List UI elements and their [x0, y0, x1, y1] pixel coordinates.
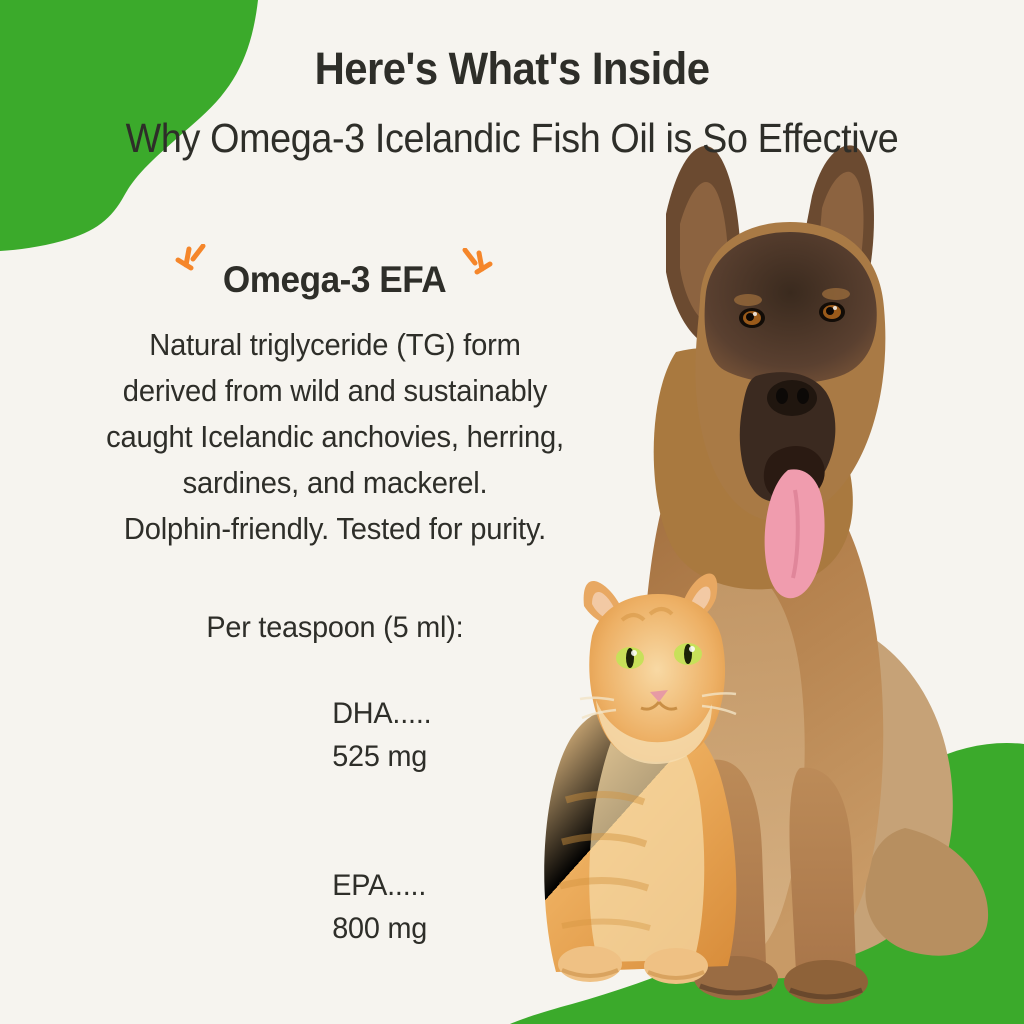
description-line: caught Icelandic anchovies, herring, — [106, 420, 564, 454]
section-heading: Omega-3 EFA — [223, 258, 446, 302]
sparkle-burst-icon — [175, 244, 209, 278]
dog-tongue — [765, 469, 825, 598]
header-block: Here's What's Inside Why Omega-3 Iceland… — [0, 42, 1024, 164]
ingredient-panel: Omega-3 EFA Natural triglyceride (TG) fo… — [28, 258, 642, 993]
page-title: Here's What's Inside — [36, 42, 988, 96]
description-line: Natural triglyceride (TG) form — [149, 328, 520, 362]
dosage-value: 525 mg — [332, 740, 427, 773]
sparkle-burst-icon — [459, 248, 493, 282]
german-shepherd-dog — [641, 145, 988, 1004]
dosage-row: EPA..... 800 mg — [206, 821, 463, 993]
section-heading-wrap: Omega-3 EFA — [175, 258, 494, 302]
description-line: Dolphin-friendly. Tested for purity. — [124, 512, 546, 546]
description-line: sardines, and mackerel. — [183, 466, 488, 500]
description-line: derived from wild and sustainably — [123, 374, 547, 408]
promo-graphic: Here's What's Inside Why Omega-3 Iceland… — [0, 0, 1024, 1024]
dosage-block: Per teaspoon (5 ml): DHA..... 525 mg EPA… — [206, 606, 463, 993]
ingredient-description: Natural triglyceride (TG) form derived f… — [42, 322, 628, 552]
page-subtitle: Why Omega-3 Icelandic Fish Oil is So Eff… — [41, 112, 983, 164]
dosage-label: DHA..... — [332, 697, 431, 730]
dosage-row: DHA..... 525 mg — [206, 649, 463, 821]
dosage-label: EPA..... — [332, 869, 426, 902]
dosage-value: 800 mg — [332, 912, 427, 945]
dosage-title: Per teaspoon (5 ml): — [206, 606, 463, 649]
